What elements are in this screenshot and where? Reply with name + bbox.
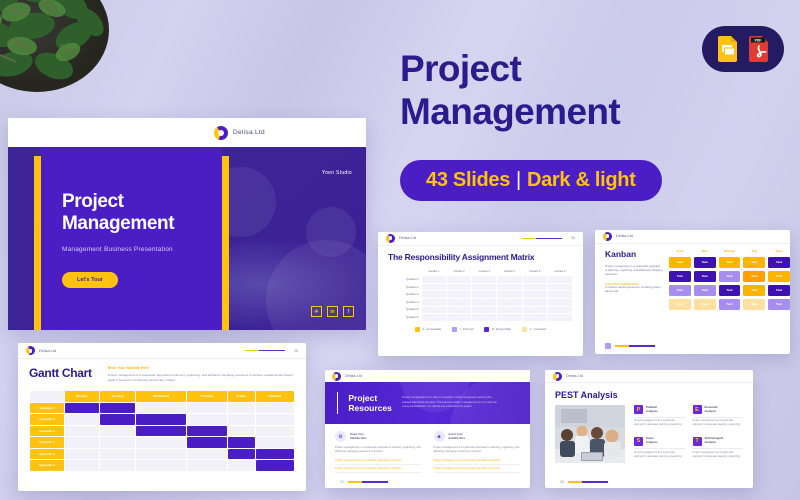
gantt-cell — [228, 414, 255, 425]
delisa-logo-icon — [603, 232, 612, 241]
ram-cell: A — [523, 284, 547, 291]
table-row: Question 4CCRRI — [389, 299, 572, 306]
bulb-icon: ⚙ — [335, 431, 346, 442]
kanban-column-header: Done — [768, 249, 790, 253]
kanban-column: DoneTaskTaskTaskTask — [768, 249, 790, 310]
divider — [634, 448, 685, 449]
kanban-card[interactable]: Task — [694, 299, 716, 310]
ram-cell: A — [523, 307, 547, 314]
ram-row-label: Question 2 — [389, 284, 421, 291]
legend-label: I - Informed — [460, 328, 474, 331]
gantt-cell — [100, 414, 136, 425]
pill-left-label: 43 Slides — [426, 169, 510, 192]
resource-caption: Insert YourSubtitle Here — [350, 433, 367, 441]
resource-item: ◈Insert YourSubtitle HereProject managem… — [434, 431, 521, 473]
linkedin-icon[interactable]: in — [327, 306, 338, 317]
kanban-card[interactable]: Task — [669, 299, 691, 310]
pest-title: PEST Analysis — [555, 390, 743, 400]
resources-hero: Project Resources Project management is … — [325, 382, 530, 424]
pest-text: Project management as a systematic appro… — [634, 451, 685, 459]
delisa-logo-icon — [386, 234, 395, 243]
table-row: Question 3 — [30, 426, 294, 437]
brand-name: Delisa.Ltd — [616, 234, 633, 238]
gantt-cell — [100, 437, 136, 448]
lets-tour-button[interactable]: Let's Tour — [62, 272, 118, 288]
ram-legend-item: R - Responsible — [484, 327, 511, 332]
ram-title: The Responsibility Assignment Matrix — [388, 252, 573, 262]
cover-accent-bar-right — [222, 156, 229, 330]
gantt-cell — [136, 426, 185, 437]
kanban-column-header: Develop — [719, 249, 741, 253]
kanban-card[interactable]: Task — [694, 257, 716, 268]
slide-header: Delisa.Ltd 08 — [18, 343, 306, 359]
legend-label: A - Accountable — [423, 328, 442, 331]
ram-cell — [472, 284, 496, 291]
pest-label: SocioAnalysis — [646, 437, 658, 445]
kanban-body: Project management is a systematic appro… — [605, 265, 663, 278]
page-number: 08 — [294, 349, 298, 353]
legend-swatch — [484, 327, 489, 332]
ram-cell: C — [422, 299, 446, 306]
gantt-cell — [65, 449, 99, 460]
gantt-cell — [228, 460, 255, 471]
resources-title-line2: Resources — [348, 403, 391, 413]
ram-cell — [548, 284, 572, 291]
kanban-card[interactable]: Task — [768, 271, 790, 282]
pest-badge: S — [634, 437, 643, 446]
brand-name: Delisa.Ltd — [399, 236, 416, 240]
cover-title: Project Management — [62, 191, 222, 236]
kanban-body2: It involves careful agreement, providing… — [605, 286, 663, 294]
ram-col-header: Contact 3 — [472, 269, 496, 276]
delisa-logo-icon — [214, 126, 228, 140]
gantt-cell — [65, 414, 99, 425]
ram-row-label: Question 5 — [389, 307, 421, 314]
ram-legend-item: C - Consulted — [522, 327, 546, 332]
gantt-day-header: Thursday — [187, 391, 227, 402]
ram-cell: A — [447, 284, 471, 291]
ram-cell: A — [422, 307, 446, 314]
facebook-icon[interactable]: f — [343, 306, 354, 317]
gantt-cell — [228, 403, 255, 414]
gantt-cell — [187, 437, 227, 448]
network-icon: ◈ — [434, 431, 445, 442]
pest-label: PoliticalAnalysis — [646, 406, 658, 414]
kanban-card[interactable]: Task — [719, 257, 741, 268]
ram-cell: I — [447, 314, 471, 321]
table-row: Question 4 — [30, 437, 294, 448]
hero-section: Project Management 43 Slides | Dark & li… — [400, 48, 730, 201]
divider — [634, 417, 685, 418]
pest-text: Project management as a systematic appro… — [634, 419, 685, 427]
ram-cell — [497, 314, 521, 321]
kanban-card[interactable]: Task — [743, 271, 765, 282]
brand-name: Delisa.Ltd — [39, 349, 56, 353]
slide-preview-resources[interactable]: Delisa.Ltd Project Resources Project man… — [325, 370, 530, 488]
kanban-column-header: Plan — [694, 249, 716, 253]
table-row: Question 2 — [30, 414, 294, 425]
pdf-icon: PDF — [748, 36, 770, 62]
ram-col-header: Contact 6 — [548, 269, 572, 276]
ram-row-label: Question 1 — [389, 276, 421, 283]
gantt-row-label: Question 2 — [30, 414, 64, 425]
pest-text: Project management as a systematic appro… — [693, 451, 744, 459]
gantt-cell — [100, 449, 136, 460]
pest-cell: PPoliticalAnalysisProject management as … — [634, 405, 685, 432]
brand-name: Delisa.Ltd — [345, 374, 362, 378]
gantt-cell — [136, 403, 185, 414]
footer-square-icon — [605, 343, 611, 349]
ram-cell: I — [447, 291, 471, 298]
ram-legend-item: I - Informed — [452, 327, 473, 332]
progress-indicator — [348, 481, 388, 483]
kanban-column: DevelopTaskTaskTaskTask — [719, 249, 741, 310]
cover-social-links: ✈ in f — [311, 306, 354, 317]
kanban-column: To doTaskTaskTaskTask — [669, 249, 691, 310]
gantt-cell — [100, 460, 136, 471]
hero-title-line2: Management — [400, 91, 620, 132]
kanban-card[interactable]: Task — [768, 299, 790, 310]
gantt-day-header: Wednesday — [136, 391, 185, 402]
ram-legend-item: A - Accountable — [415, 327, 441, 332]
delisa-logo-icon — [26, 346, 35, 355]
kanban-card[interactable]: Task — [743, 299, 765, 310]
gantt-day-header: Friday — [228, 391, 255, 402]
ram-cell: R — [447, 276, 471, 283]
cover-accent-bar-left — [34, 156, 41, 330]
kanban-card[interactable]: Task — [669, 285, 691, 296]
ram-cell: R — [497, 276, 521, 283]
cover-topbar: Delisa.Ltd — [8, 118, 366, 147]
gantt-cell — [100, 403, 136, 414]
kanban-card[interactable]: Task — [694, 271, 716, 282]
ram-cell: R — [548, 276, 572, 283]
kanban-card[interactable]: Task — [694, 285, 716, 296]
slide-footer — [605, 343, 655, 349]
divider — [693, 448, 744, 449]
legend-swatch — [415, 327, 420, 332]
hero-title-line1: Project — [400, 48, 521, 89]
resource-body: Project management is a systematic appro… — [434, 446, 521, 455]
table-row: Question 2AAA — [389, 284, 572, 291]
legend-swatch — [452, 327, 457, 332]
slide-preview-gantt[interactable]: Delisa.Ltd 08 Gantt Chart Enter Your Sub… — [18, 343, 306, 491]
kanban-card[interactable]: Task — [743, 257, 765, 268]
pill-right-label: Dark & light — [527, 169, 636, 192]
gantt-cell — [187, 414, 227, 425]
progress-indicator — [245, 350, 285, 352]
gantt-row-label: Question 3 — [30, 426, 64, 437]
slide-preview-cover[interactable]: Delisa.Ltd Yoen Studio Project Managemen… — [8, 118, 366, 330]
gantt-cell — [136, 460, 185, 471]
gantt-row-label: Question 1 — [30, 403, 64, 414]
ram-cell: I — [497, 291, 521, 298]
ram-row-label: Question 6 — [389, 314, 421, 321]
page-number: 21 — [340, 480, 344, 484]
gantt-cell — [256, 414, 294, 425]
twitter-icon[interactable]: ✈ — [311, 306, 322, 317]
gantt-cell — [256, 426, 294, 437]
ram-col-header: Contact 2 — [447, 269, 471, 276]
ram-row-label: Question 3 — [389, 291, 421, 298]
ram-cell: R — [472, 299, 496, 306]
kanban-title: Kanban — [605, 249, 663, 259]
hero-accent-bar — [337, 392, 338, 414]
pest-text: Project management as a systematic appro… — [693, 419, 744, 427]
resource-bullet: Project management is a systematic appro… — [434, 458, 521, 466]
brand-name: Delisa.Ltd — [566, 374, 583, 378]
gantt-cell — [100, 426, 136, 437]
ram-legend: A - AccountableI - InformedR - Responsib… — [388, 327, 573, 332]
pest-badge: T — [693, 437, 702, 446]
slide-header: Delisa.Ltd — [595, 230, 790, 244]
slide-header: Delisa.Ltd — [325, 370, 530, 382]
progress-indicator — [522, 238, 562, 240]
pest-cell: SSocioAnalysisProject management as a sy… — [634, 437, 685, 464]
cover-panel: Project Management Management Business P… — [41, 147, 222, 330]
slide-header: Delisa.Ltd — [545, 370, 753, 383]
legend-label: R - Responsible — [492, 328, 511, 331]
table-row: Question 1 — [30, 403, 294, 414]
ram-cell: I — [472, 291, 496, 298]
kanban-card[interactable]: Task — [768, 257, 790, 268]
kanban-column-header: To do — [669, 249, 691, 253]
ram-cell: I — [548, 291, 572, 298]
gantt-title: Gantt Chart — [29, 366, 92, 380]
slide-preview-pest[interactable]: Delisa.Ltd PEST Analysis — [545, 370, 753, 488]
gantt-paragraph: Project management is a systematic appro… — [108, 373, 295, 383]
plant-decoration — [0, 0, 132, 118]
table-row: Question 6IICRR — [389, 314, 572, 321]
resources-title: Project Resources — [348, 393, 391, 414]
slide-preview-ram[interactable]: Delisa.Ltd 05 The Responsibility Assignm… — [378, 232, 583, 356]
ram-cell — [523, 299, 547, 306]
page-title: Project Management — [400, 48, 730, 134]
ram-cell: R — [523, 314, 547, 321]
resource-body: Project management is a systematic appro… — [335, 446, 422, 455]
ram-cell — [422, 291, 446, 298]
slide-footer: 21 — [335, 480, 388, 484]
table-row: Question 1RRR — [389, 276, 572, 283]
ram-cell: A — [523, 291, 547, 298]
gantt-cell — [256, 449, 294, 460]
gantt-table: MondayTuesdayWednesdayThursdayFridaySatu… — [29, 390, 295, 472]
ram-col-header: Contact 4 — [497, 269, 521, 276]
ram-cell: I — [548, 299, 572, 306]
pest-cells: PPoliticalAnalysisProject management as … — [634, 405, 743, 463]
ram-cell: R — [548, 314, 572, 321]
ram-cell — [472, 307, 496, 314]
delisa-logo-icon — [553, 372, 562, 381]
gantt-cell — [256, 437, 294, 448]
gantt-cell — [228, 437, 255, 448]
kanban-column: PlanTaskTaskTaskTask — [694, 249, 716, 310]
gantt-cell — [65, 437, 99, 448]
gantt-cell — [65, 403, 99, 414]
ram-cell: C — [472, 314, 496, 321]
table-row: Question 5 — [30, 449, 294, 460]
progress-indicator — [615, 345, 655, 347]
pest-cell: TTechnologicalAnalysisProject management… — [693, 437, 744, 464]
ram-cell — [523, 276, 547, 283]
slide-preview-kanban[interactable]: Delisa.Ltd Kanban Project management is … — [595, 230, 790, 354]
kanban-card[interactable]: Task — [719, 299, 741, 310]
gantt-cell — [187, 449, 227, 460]
kanban-card[interactable]: Task — [743, 285, 765, 296]
kanban-card[interactable]: Task — [669, 257, 691, 268]
table-row: Question 6 — [30, 460, 294, 471]
gantt-day-header: Monday — [65, 391, 99, 402]
gantt-cell — [187, 426, 227, 437]
ram-cell — [472, 276, 496, 283]
gantt-row-label: Question 5 — [30, 449, 64, 460]
gantt-cell — [65, 460, 99, 471]
legend-swatch — [522, 327, 527, 332]
pest-cell: EEconomicAnalysisProject management as a… — [693, 405, 744, 432]
pest-badge: E — [693, 405, 702, 414]
ram-col-header: Contact 5 — [523, 269, 547, 276]
ram-cell: C — [497, 307, 521, 314]
ram-cell: R — [497, 299, 521, 306]
kanban-column: TestTaskTaskTaskTask — [743, 249, 765, 310]
gantt-cell — [136, 437, 185, 448]
cover-title-line2: Management — [62, 213, 174, 234]
svg-text:PDF: PDF — [754, 39, 761, 43]
cover-photo-background: Yoen Studio Project Management Managemen… — [8, 147, 366, 330]
brand-logo: Delisa.Ltd — [214, 126, 265, 140]
ram-cell: I — [422, 314, 446, 321]
slides-count-badge: 43 Slides | Dark & light — [400, 160, 662, 201]
gantt-day-header: Tuesday — [100, 391, 136, 402]
gantt-cell — [228, 426, 255, 437]
ram-cell: A — [422, 284, 446, 291]
pest-badge: P — [634, 405, 643, 414]
gantt-cell — [187, 403, 227, 414]
gantt-day-header: Saturday — [256, 391, 294, 402]
delisa-logo-icon — [332, 372, 341, 381]
gantt-row-label: Question 6 — [30, 460, 64, 471]
gantt-cell — [228, 449, 255, 460]
cover-subtitle: Management Business Presentation — [62, 246, 222, 253]
resources-items: ⚙Insert YourSubtitle HereProject managem… — [325, 424, 530, 473]
page-number: 05 — [571, 236, 575, 240]
resource-bullet: Project management is a systematic appro… — [434, 465, 521, 473]
ram-cell — [422, 276, 446, 283]
resource-item: ⚙Insert YourSubtitle HereProject managem… — [335, 431, 422, 473]
progress-indicator — [568, 481, 608, 483]
cover-studio-label: Yoen Studio — [322, 170, 352, 176]
kanban-card[interactable]: Task — [669, 271, 691, 282]
cover-title-line1: Project — [62, 191, 124, 212]
ram-cell: C — [447, 299, 471, 306]
resource-bullet: Project management is a systematic appro… — [335, 465, 422, 473]
gantt-cell — [136, 414, 185, 425]
kanban-card[interactable]: Task — [768, 285, 790, 296]
gantt-cell — [65, 426, 99, 437]
resource-bullet: Project management is a systematic appro… — [335, 458, 422, 466]
slide-header: Delisa.Ltd 05 — [378, 232, 583, 246]
kanban-card[interactable]: Task — [719, 285, 741, 296]
table-row: Question 3IIIAI — [389, 291, 572, 298]
kanban-card[interactable]: Task — [719, 271, 741, 282]
ram-cell — [497, 284, 521, 291]
team-meeting-photo — [555, 405, 625, 463]
ram-row-label: Question 4 — [389, 299, 421, 306]
gantt-subtitle: Enter Your Subtitle Here — [108, 366, 295, 370]
pill-separator: | — [516, 169, 521, 192]
page-number: 30 — [560, 480, 564, 484]
divider — [693, 417, 744, 418]
gantt-row-label: Question 4 — [30, 437, 64, 448]
kanban-column-header: Test — [743, 249, 765, 253]
ram-cell — [548, 307, 572, 314]
slide-footer: 30 — [555, 480, 608, 484]
table-row: Question 5ARCA — [389, 307, 572, 314]
pest-label: EconomicAnalysis — [705, 406, 718, 414]
legend-label: C - Consulted — [530, 328, 546, 331]
resource-caption: Insert YourSubtitle Here — [449, 433, 466, 441]
gantt-cell — [187, 460, 227, 471]
pest-label: TechnologicalAnalysis — [705, 437, 724, 445]
gantt-cell — [256, 403, 294, 414]
ram-col-header: Contact 1 — [422, 269, 446, 276]
kanban-text-column: Kanban Project management is a systemati… — [605, 249, 663, 310]
gantt-cell — [256, 460, 294, 471]
ram-table: Contact 1Contact 2Contact 3Contact 4Cont… — [388, 268, 573, 322]
resources-title-line1: Project — [348, 393, 377, 403]
ram-cell: R — [447, 307, 471, 314]
kanban-board: To doTaskTaskTaskTaskPlanTaskTaskTaskTas… — [669, 249, 790, 310]
brand-name: Delisa.Ltd — [233, 129, 265, 136]
gantt-cell — [136, 449, 185, 460]
